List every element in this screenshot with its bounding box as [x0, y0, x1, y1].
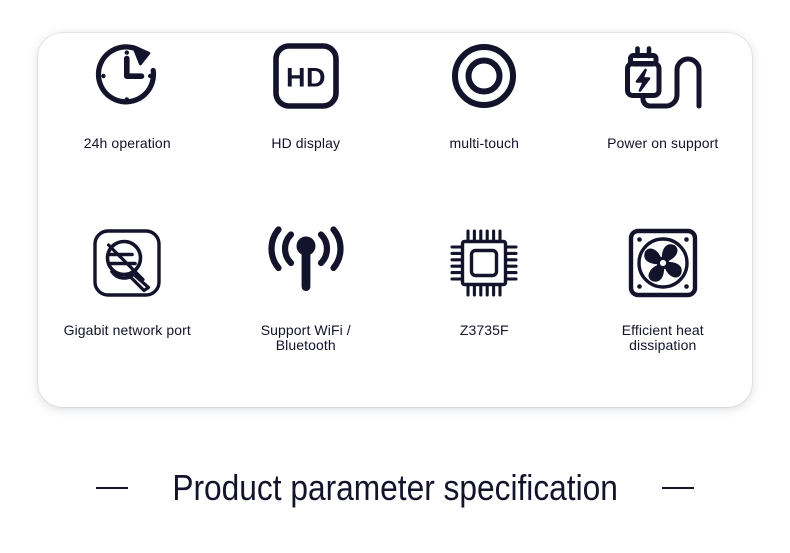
feature-label: Z3735F [460, 323, 509, 338]
cpu-chip-icon [441, 220, 527, 306]
feature-label: Gigabit network port [64, 323, 191, 338]
feature-label: HD display [271, 136, 340, 151]
feature-label: Efficient heat dissipation [622, 323, 704, 353]
wifi-antenna-icon [263, 220, 349, 306]
concentric-rings-icon [441, 33, 527, 119]
feature-item-efficient-heat-dissipation[interactable]: Efficient heat dissipation [574, 220, 753, 407]
feature-grid: 24h operation HD HD display [38, 33, 752, 407]
product-feature-card: 24h operation HD HD display [38, 33, 752, 407]
feature-item-24h-operation[interactable]: 24h operation [38, 33, 217, 220]
feature-item-multi-touch[interactable]: multi-touch [395, 33, 574, 220]
page-root: 24h operation HD HD display [0, 0, 790, 553]
feature-label: 24h operation [84, 136, 171, 151]
ethernet-port-icon [84, 220, 170, 306]
feature-label: multi-touch [449, 136, 519, 151]
heading-dash-left [96, 487, 128, 489]
cooling-fan-icon [620, 220, 706, 306]
hd-badge-icon: HD [263, 33, 349, 119]
feature-item-cpu-z3735f[interactable]: Z3735F [395, 220, 574, 407]
feature-item-power-on-support[interactable]: Power on support [574, 33, 753, 220]
feature-item-support-wifi-bluetooth[interactable]: Support WiFi / Bluetooth [217, 220, 396, 407]
feature-label: Power on support [607, 136, 718, 151]
page-title: Product parameter specification [172, 468, 618, 508]
feature-label: Support WiFi / Bluetooth [261, 323, 351, 353]
feature-item-hd-display[interactable]: HD HD display [217, 33, 396, 220]
svg-text:HD: HD [286, 63, 326, 93]
power-adapter-icon [620, 33, 706, 119]
heading-dash-right [662, 487, 694, 489]
feature-item-gigabit-network-port[interactable]: Gigabit network port [38, 220, 217, 407]
section-heading: Product parameter specification [0, 455, 790, 521]
clock-arrow-icon [84, 33, 170, 119]
